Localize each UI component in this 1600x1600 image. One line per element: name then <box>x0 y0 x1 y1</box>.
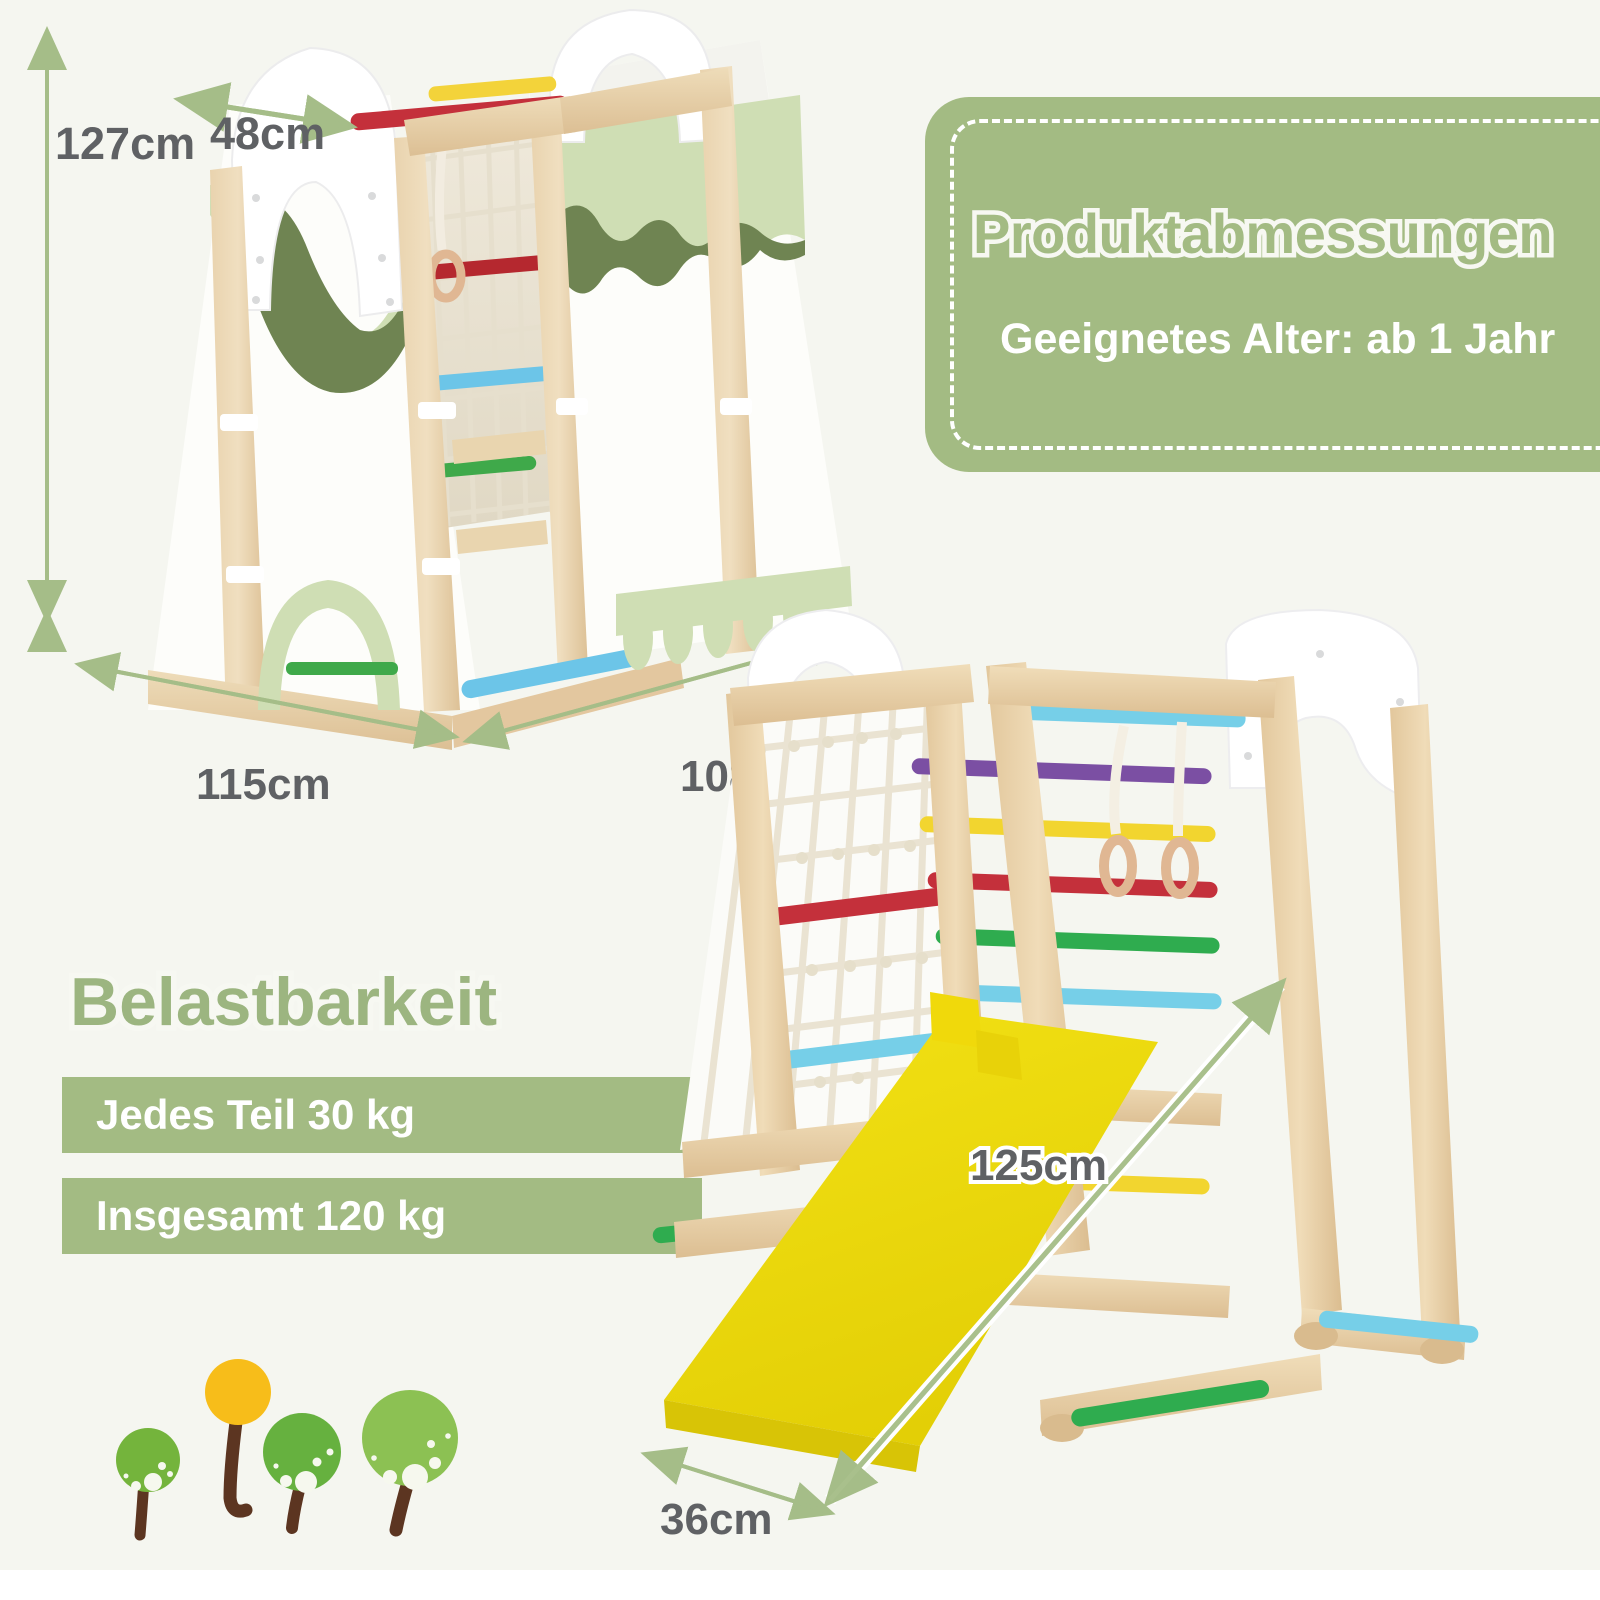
dimension-label-slide-length: 125cm <box>970 1141 1107 1191</box>
infographic-canvas: 127cm 48cm 115cm 108cm Produktabmessunge… <box>0 0 1600 1600</box>
bottom-bleed-strip <box>0 1570 1600 1600</box>
dimension-arrows-climbing-frame <box>0 0 1600 1600</box>
dimension-label-slide-width: 36cm <box>660 1495 773 1545</box>
